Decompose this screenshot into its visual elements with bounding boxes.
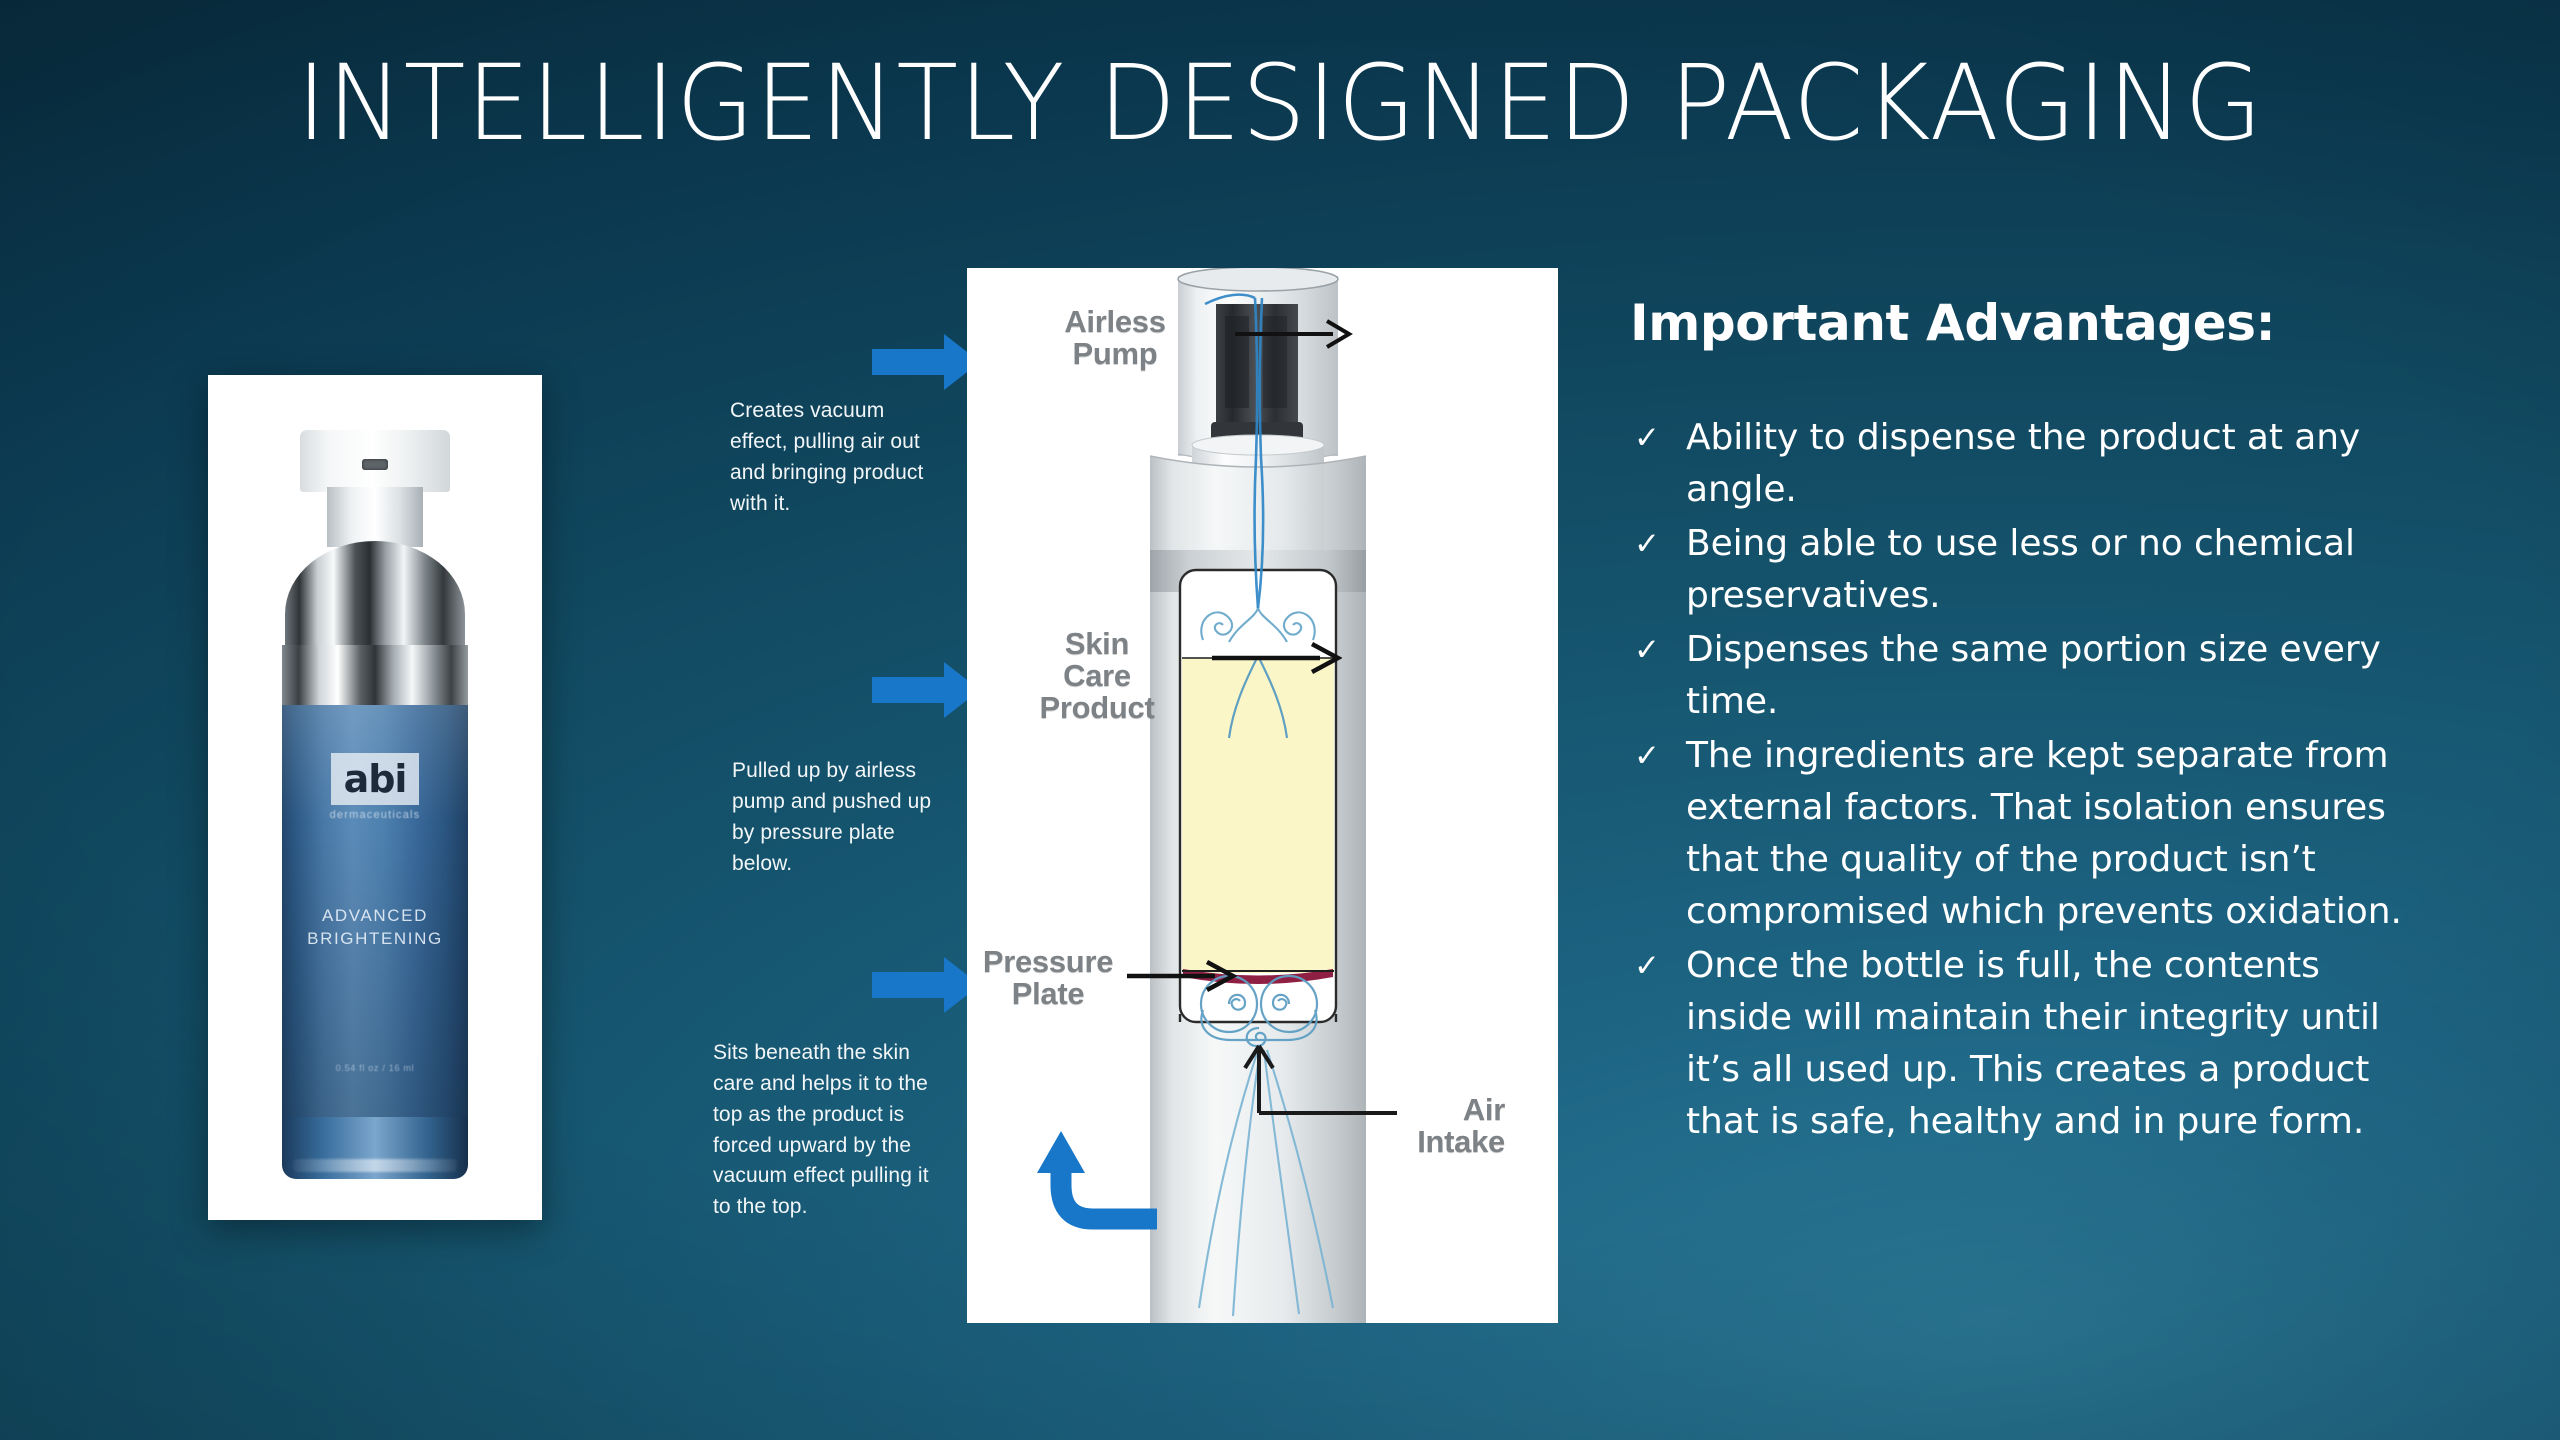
leader-arrow-pressure-plate [1127,958,1237,994]
diagram-label-airless-pump: Airless Pump [995,306,1235,370]
annotation-vacuum-effect: Creates vacuum effect, pulling air out a… [730,396,940,519]
bottle-product-name-line2: BRIGHTENING [290,928,460,951]
annotation-pulled-up: Pulled up by airless pump and pushed up … [732,756,942,879]
diagram-label-pressure-plate: Pressure Plate [953,946,1143,1010]
check-icon: ✓ [1630,412,1686,464]
advantage-text: Dispenses the same portion size every ti… [1686,624,2420,728]
check-icon: ✓ [1630,518,1686,570]
bottle-brand-text: abi [344,760,407,798]
blue-curved-arrow-air-flow [1035,1123,1165,1233]
product-bottle-image: abi dermaceuticals ADVANCED BRIGHTENING … [208,375,542,1220]
bottle-chrome-shoulder [285,541,465,659]
blue-arrow-airless-pump [872,332,982,392]
page-title: INTELLIGENTLY DESIGNED PACKAGING [38,42,2521,164]
bottle-base [282,1117,468,1179]
check-icon: ✓ [1630,730,1686,782]
bottle-brand-logo: abi [331,753,419,805]
bottle-product-name: ADVANCED BRIGHTENING [290,905,460,951]
advantages-heading: Important Advantages: [1630,294,2275,352]
advantage-text: Once the bottle is full, the contents in… [1686,940,2420,1148]
bottle-brand-subtitle: dermaceuticals [300,809,450,821]
bottle-cap-slot-icon [362,459,388,470]
bottle-chrome-collar [282,645,468,711]
advantage-item: ✓ The ingredients are kept separate from… [1630,730,2420,938]
advantage-item: ✓ Ability to dispense the product at any… [1630,412,2420,516]
advantage-text: Ability to dispense the product at any a… [1686,412,2420,516]
leader-arrow-skin-care-product [1212,640,1342,676]
advantage-text: The ingredients are kept separate from e… [1686,730,2420,938]
leader-arrow-airless-pump [1235,316,1355,352]
advantage-item: ✓ Being able to use less or no chemical … [1630,518,2420,622]
product-photo-card: abi dermaceuticals ADVANCED BRIGHTENING … [208,375,542,1220]
annotation-sits-beneath: Sits beneath the skin care and helps it … [713,1038,938,1223]
diagram-label-air-intake: Air Intake [1337,1094,1505,1158]
bottle-product-name-line1: ADVANCED [290,905,460,928]
bottle-volume-text: 0.54 fl oz / 16 ml [290,1063,460,1073]
check-icon: ✓ [1630,624,1686,676]
diagram-label-skin-care-product: Skin Care Product [977,628,1217,725]
advantages-list: ✓ Ability to dispense the product at any… [1630,412,2420,1150]
airless-pump-diagram-panel: Airless Pump Skin Care Product Pressure … [967,268,1558,1323]
blue-arrow-skin-care-product [872,660,982,720]
bottle-neck [327,487,423,547]
check-icon: ✓ [1630,940,1686,992]
advantage-text: Being able to use less or no chemical pr… [1686,518,2420,622]
advantage-item: ✓ Once the bottle is full, the contents … [1630,940,2420,1148]
advantage-item: ✓ Dispenses the same portion size every … [1630,624,2420,728]
